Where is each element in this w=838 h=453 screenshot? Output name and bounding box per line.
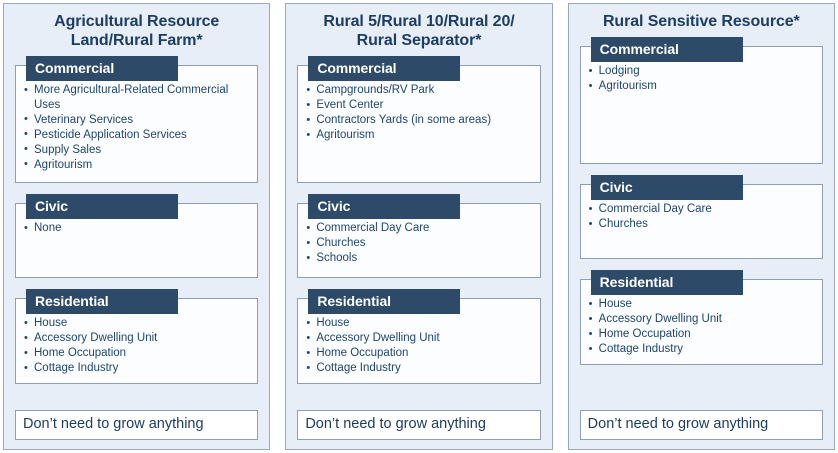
use-list: HouseAccessory Dwelling UnitHome Occupat… — [304, 316, 533, 376]
list-item: Commercial Day Care — [587, 202, 816, 217]
footer-note: Don’t need to grow anything — [297, 410, 540, 440]
list-item: Agritourism — [22, 158, 251, 173]
section-body: LodgingAgritourism — [580, 46, 823, 164]
list-item: None — [22, 221, 251, 236]
section-body: More Agricultural-Related Commercial Use… — [15, 65, 258, 183]
list-item: Cottage Industry — [587, 342, 816, 357]
footer-note: Don’t need to grow anything — [15, 410, 258, 440]
zone-panel: Rural Sensitive Resource*LodgingAgritour… — [568, 3, 835, 450]
section-civic: Commercial Day CareChurchesCivic — [580, 175, 823, 259]
section-commercial: More Agricultural-Related Commercial Use… — [15, 56, 258, 183]
list-item: Veterinary Services — [22, 113, 251, 128]
list-item: Accessory Dwelling Unit — [22, 331, 251, 346]
use-list: LodgingAgritourism — [587, 64, 816, 94]
section-header-residential: Residential — [591, 270, 743, 295]
section-header-residential: Residential — [26, 289, 178, 314]
list-item: Churches — [304, 236, 533, 251]
list-item: Cottage Industry — [304, 361, 533, 376]
list-item: Lodging — [587, 64, 816, 79]
section-header-civic: Civic — [26, 194, 178, 219]
section-residential: HouseAccessory Dwelling UnitHome Occupat… — [297, 289, 540, 384]
list-item: Home Occupation — [587, 327, 816, 342]
section-residential: HouseAccessory Dwelling UnitHome Occupat… — [15, 289, 258, 384]
list-item: More Agricultural-Related Commercial Use… — [22, 83, 251, 112]
section-civic: Commercial Day CareChurchesSchoolsCivic — [297, 194, 540, 278]
footer-note: Don’t need to grow anything — [580, 410, 823, 440]
use-list: More Agricultural-Related Commercial Use… — [22, 83, 251, 172]
section-civic: NoneCivic — [15, 194, 258, 278]
use-list: Commercial Day CareChurchesSchools — [304, 221, 533, 266]
panel-title: Agricultural Resource Land/Rural Farm* — [15, 12, 258, 50]
list-item: Home Occupation — [22, 346, 251, 361]
list-item: Campgrounds/RV Park — [304, 83, 533, 98]
section-header-commercial: Commercial — [591, 37, 743, 62]
section-header-commercial: Commercial — [308, 56, 460, 81]
list-item: Agritourism — [304, 128, 533, 143]
list-item: Commercial Day Care — [304, 221, 533, 236]
section-header-civic: Civic — [308, 194, 460, 219]
use-list: HouseAccessory Dwelling UnitHome Occupat… — [587, 297, 816, 357]
section-commercial: LodgingAgritourismCommercial — [580, 37, 823, 164]
list-item: Accessory Dwelling Unit — [304, 331, 533, 346]
use-list: None — [22, 221, 251, 236]
list-item: Event Center — [304, 98, 533, 113]
section-header-residential: Residential — [308, 289, 460, 314]
zone-panel: Rural 5/Rural 10/Rural 20/ Rural Separat… — [285, 3, 552, 450]
section-commercial: Campgrounds/RV ParkEvent CenterContracto… — [297, 56, 540, 183]
list-item: Accessory Dwelling Unit — [587, 312, 816, 327]
use-list: HouseAccessory Dwelling UnitHome Occupat… — [22, 316, 251, 376]
section-header-commercial: Commercial — [26, 56, 178, 81]
list-item: Contractors Yards (in some areas) — [304, 113, 533, 128]
use-list: Campgrounds/RV ParkEvent CenterContracto… — [304, 83, 533, 143]
list-item: House — [22, 316, 251, 331]
zoning-comparison-board: Agricultural Resource Land/Rural Farm*Mo… — [0, 0, 838, 453]
list-item: Home Occupation — [304, 346, 533, 361]
list-item: Pesticide Application Services — [22, 128, 251, 143]
list-item: Agritourism — [587, 79, 816, 94]
list-item: House — [304, 316, 533, 331]
use-list: Commercial Day CareChurches — [587, 202, 816, 232]
list-item: Schools — [304, 251, 533, 266]
list-item: Churches — [587, 217, 816, 232]
zone-panel: Agricultural Resource Land/Rural Farm*Mo… — [3, 3, 270, 450]
section-body: Campgrounds/RV ParkEvent CenterContracto… — [297, 65, 540, 183]
list-item: House — [587, 297, 816, 312]
list-item: Supply Sales — [22, 143, 251, 158]
section-header-civic: Civic — [591, 175, 743, 200]
panel-title: Rural 5/Rural 10/Rural 20/ Rural Separat… — [297, 12, 540, 50]
section-residential: HouseAccessory Dwelling UnitHome Occupat… — [580, 270, 823, 365]
list-item: Cottage Industry — [22, 361, 251, 376]
panel-title: Rural Sensitive Resource* — [580, 12, 823, 31]
